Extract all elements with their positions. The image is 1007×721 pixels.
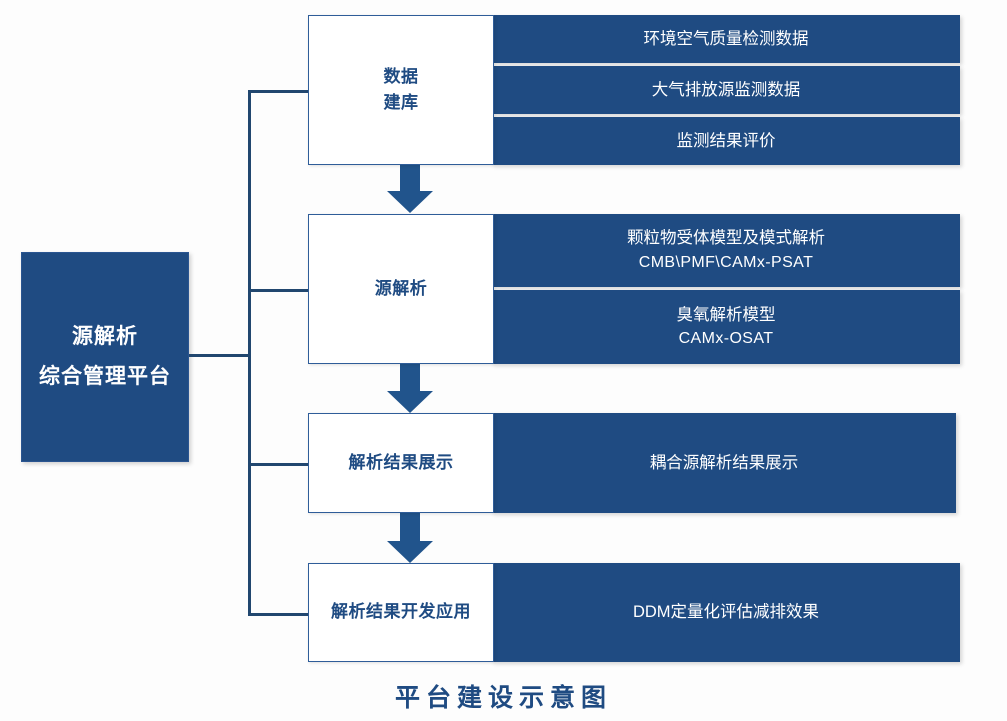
stage-label-4: 解析结果开发应用 — [308, 563, 494, 662]
root-node-title-line2: 综合管理平台 — [39, 357, 171, 397]
connector-branch-2 — [248, 289, 310, 292]
stage-group-3: 解析结果展示 耦合源解析结果展示 — [308, 413, 956, 513]
panel-item[interactable]: DDM定量化评估减排效果 — [492, 563, 960, 662]
panel-main-text: 大气排放源监测数据 — [652, 78, 801, 103]
panel-main-text: 臭氧解析模型 — [677, 306, 776, 324]
panel-item[interactable]: 臭氧解析模型 CAMx-OSAT — [492, 290, 960, 364]
connector-branch-3 — [248, 463, 310, 466]
diagram-canvas: 源解析 综合管理平台 数据 建库 环境空气质量检测数据 大气排放源监测数据 监测… — [0, 0, 1007, 721]
stage-panels-2: 颗粒物受体模型及模式解析 CMB\PMF\CAMx-PSAT 臭氧解析模型 CA… — [492, 214, 960, 364]
panel-item[interactable]: 大气排放源监测数据 — [492, 66, 960, 114]
stage-label-3-line1: 解析结果展示 — [349, 450, 454, 476]
stage-group-2: 源解析 颗粒物受体模型及模式解析 CMB\PMF\CAMx-PSAT 臭氧解析模… — [308, 214, 960, 364]
root-node-title-line1: 源解析 — [72, 317, 138, 357]
stage-label-3: 解析结果展示 — [308, 413, 494, 513]
stage-label-1: 数据 建库 — [308, 15, 494, 165]
panel-main-text: 耦合源解析结果展示 — [650, 451, 799, 476]
stage-label-2-line1: 源解析 — [375, 276, 428, 302]
panel-sub-text: CMB\PMF\CAMx-PSAT — [627, 251, 825, 275]
stage-label-2: 源解析 — [308, 214, 494, 364]
stage-label-4-line1: 解析结果开发应用 — [331, 599, 471, 625]
stage-label-1-line2: 建库 — [384, 90, 419, 116]
root-node-platform: 源解析 综合管理平台 — [21, 252, 189, 462]
stage-label-1-line1: 数据 — [384, 64, 419, 90]
diagram-caption: 平台建设示意图 — [0, 678, 1007, 714]
panel-main-text: 颗粒物受体模型及模式解析 — [627, 229, 825, 247]
connector-root-stem — [189, 354, 251, 357]
flow-arrow-2 — [387, 364, 433, 413]
panel-main-text: 监测结果评价 — [677, 129, 776, 154]
stage-group-1: 数据 建库 环境空气质量检测数据 大气排放源监测数据 监测结果评价 — [308, 15, 960, 165]
panel-sub-text: CAMx-OSAT — [677, 327, 776, 351]
connector-branch-1 — [248, 90, 310, 93]
stage-panels-4: DDM定量化评估减排效果 — [492, 563, 960, 662]
connector-trunk — [248, 90, 251, 616]
panel-item[interactable]: 监测结果评价 — [492, 117, 960, 165]
flow-arrow-1 — [387, 165, 433, 213]
panel-item[interactable]: 环境空气质量检测数据 — [492, 15, 960, 63]
panel-main-text: DDM定量化评估减排效果 — [633, 600, 819, 625]
stage-group-4: 解析结果开发应用 DDM定量化评估减排效果 — [308, 563, 960, 662]
panel-item[interactable]: 颗粒物受体模型及模式解析 CMB\PMF\CAMx-PSAT — [492, 214, 960, 287]
stage-panels-3: 耦合源解析结果展示 — [492, 413, 956, 513]
flow-arrow-3 — [387, 513, 433, 563]
panel-item[interactable]: 耦合源解析结果展示 — [492, 413, 956, 513]
connector-branch-4 — [248, 613, 310, 616]
panel-main-text: 环境空气质量检测数据 — [644, 27, 809, 52]
stage-panels-1: 环境空气质量检测数据 大气排放源监测数据 监测结果评价 — [492, 15, 960, 165]
